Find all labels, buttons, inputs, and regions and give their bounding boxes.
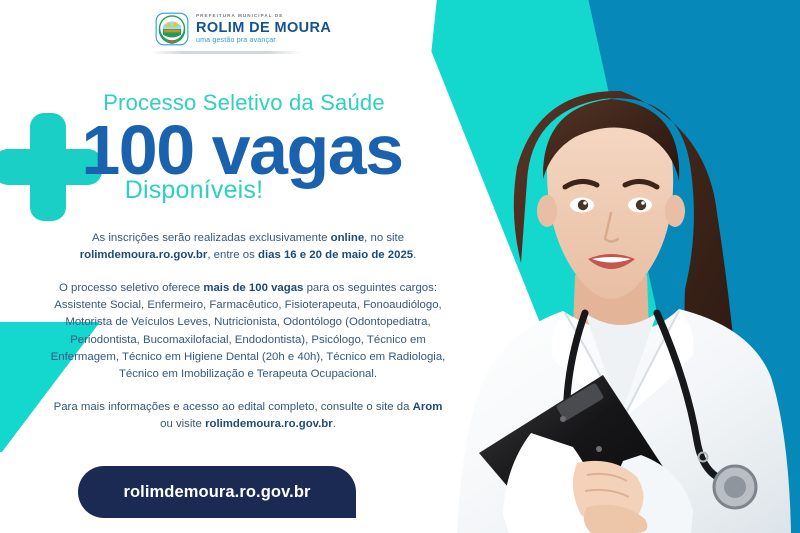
p3-text-c: ou visite <box>160 418 205 430</box>
body-copy: As inscrições serão realizadas exclusiva… <box>48 230 448 433</box>
prefeitura-logo: PREFEITURA MUNICIPAL DE ROLIM DE MOURA u… <box>155 12 331 46</box>
p3-text-a: Para mais informações e acesso ao edital… <box>54 401 413 413</box>
p1-dates: dias 16 e 20 de maio de 2025 <box>258 249 413 261</box>
ear-left <box>537 195 557 227</box>
p1-text-c: , no site <box>364 232 404 244</box>
coat-of-arms-icon <box>155 12 189 46</box>
stethoscope-diaphragm <box>724 476 746 498</box>
p1-text-g: . <box>413 249 416 261</box>
eye-glint-right <box>641 201 645 205</box>
p1-text-a: As inscrições serão realizadas exclusiva… <box>92 232 331 244</box>
p2-text-c: para os seguintes cargos: Assistente Soc… <box>51 282 446 381</box>
logo-text-block: PREFEITURA MUNICIPAL DE ROLIM DE MOURA u… <box>196 14 331 44</box>
p2-vagas: mais de 100 vagas <box>203 282 303 294</box>
logo-divider <box>150 51 302 54</box>
p1-online: online <box>331 232 365 244</box>
paragraph-informacoes: Para mais informações e acesso ao edital… <box>48 399 448 434</box>
url-banner[interactable]: rolimdemoura.ro.gov.br <box>78 466 356 518</box>
p3-text-e: . <box>333 418 336 430</box>
logo-eyebrow: PREFEITURA MUNICIPAL DE <box>196 14 331 19</box>
clipboard-rivet-left <box>560 416 566 422</box>
url-banner-text: rolimdemoura.ro.gov.br <box>123 483 310 502</box>
doctor-photo <box>435 63 800 533</box>
iris-right <box>636 200 646 210</box>
poster-root: PREFEITURA MUNICIPAL DE ROLIM DE MOURA u… <box>0 0 800 533</box>
p1-site: rolimdemoura.ro.gov.br <box>80 249 208 261</box>
paragraph-inscricoes: As inscrições serão realizadas exclusiva… <box>48 230 448 265</box>
paragraph-cargos: O processo seletivo oferece mais de 100 … <box>48 280 448 384</box>
logo-name: ROLIM DE MOURA <box>196 21 331 36</box>
p3-arom: Arom <box>413 401 443 413</box>
p1-text-e: , entre os <box>207 249 258 261</box>
ear-right <box>665 195 685 227</box>
eye-glint-left <box>583 201 587 205</box>
headline-block: Processo Seletivo da Saúde 100 vagas Dis… <box>0 92 460 203</box>
clipboard-rivet-right <box>596 446 602 452</box>
p2-text-a: O processo seletivo oferece <box>59 282 203 294</box>
iris-left <box>578 200 588 210</box>
p3-site: rolimdemoura.ro.gov.br <box>205 418 333 430</box>
headline-number: 100 vagas <box>24 118 460 182</box>
logo-tagline: uma gestão pra avançar <box>196 37 331 44</box>
